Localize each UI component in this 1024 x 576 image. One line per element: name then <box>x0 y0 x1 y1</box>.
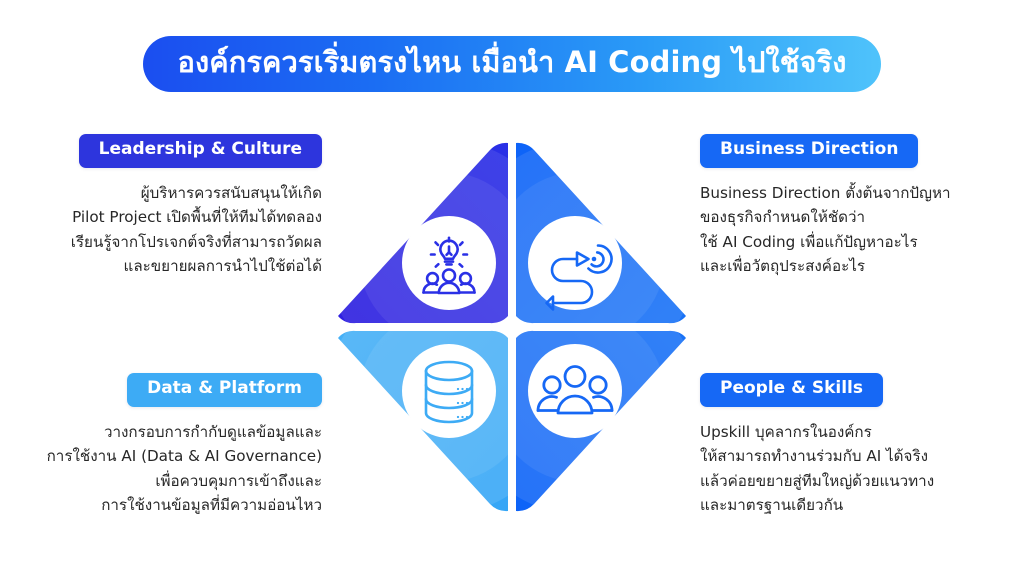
body-people-skills: Upskill บุคลากรในองค์กร ให้สามารถทำงานร่… <box>700 420 1000 519</box>
body-line: และเพื่อวัตถุประสงค์อะไร <box>700 254 1000 279</box>
quadrant-text-people-skills: People & Skills Upskill บุคลากรในองค์กร … <box>700 373 1000 518</box>
body-line: แล้วค่อยขยายสู่ทีมใหญ่ด้วยแนวทาง <box>700 469 1000 494</box>
icon-circle-business-direction[interactable] <box>528 216 622 310</box>
body-line: Upskill บุคลากรในองค์กร <box>700 420 1000 445</box>
icon-circle-leadership-culture[interactable] <box>402 216 496 310</box>
body-line: Pilot Project เปิดพื้นที่ให้ทีมได้ทดลอง <box>22 205 322 230</box>
body-line: เรียนรู้จากโปรเจกต์จริงที่สามารถวัดผล <box>22 230 322 255</box>
body-leadership-culture: ผู้บริหารควรสนับสนุนให้เกิด Pilot Projec… <box>22 181 322 280</box>
center-pinwheel-diagram <box>325 133 699 521</box>
body-line: เพื่อควบคุมการเข้าถึงและ <box>22 469 322 494</box>
body-line: ใช้ AI Coding เพื่อแก้ปัญหาอะไร <box>700 230 1000 255</box>
quadrant-text-business-direction: Business Direction Business Direction ตั… <box>700 134 1000 279</box>
badge-data-platform: Data & Platform <box>127 373 322 407</box>
body-line: การใช้งานข้อมูลที่มีความอ่อนไหว <box>22 493 322 518</box>
body-line: และมาตรฐานเดียวกัน <box>700 493 1000 518</box>
title-bar: องค์กรควรเริ่มตรงไหน เมื่อนำ AI Coding ไ… <box>0 36 1024 92</box>
body-line: ของธุรกิจกำหนดให้ชัดว่า <box>700 205 1000 230</box>
page-title: องค์กรควรเริ่มตรงไหน เมื่อนำ AI Coding ไ… <box>143 36 880 92</box>
body-line: วางกรอบการกำกับดูแลข้อมูลและ <box>22 420 322 445</box>
infographic-slide: องค์กรควรเริ่มตรงไหน เมื่อนำ AI Coding ไ… <box>0 0 1024 576</box>
icon-circle-data-platform[interactable] <box>402 344 496 438</box>
badge-business-direction: Business Direction <box>700 134 918 168</box>
quadrant-text-data-platform: Data & Platform วางกรอบการกำกับดูแลข้อมู… <box>22 373 322 518</box>
badge-leadership-culture: Leadership & Culture <box>79 134 322 168</box>
icon-circle-people-skills[interactable] <box>528 344 622 438</box>
body-business-direction: Business Direction ตั้งต้นจากปัญหา ของธุ… <box>700 181 1000 280</box>
body-line: Business Direction ตั้งต้นจากปัญหา <box>700 181 1000 206</box>
body-line: ให้สามารถทำงานร่วมกับ AI ได้จริง <box>700 444 1000 469</box>
badge-people-skills: People & Skills <box>700 373 883 407</box>
body-line: การใช้งาน AI (Data & AI Governance) <box>22 444 322 469</box>
quadrant-text-leadership-culture: Leadership & Culture ผู้บริหารควรสนับสนุ… <box>22 134 322 279</box>
body-data-platform: วางกรอบการกำกับดูแลข้อมูลและ การใช้งาน A… <box>22 420 322 519</box>
body-line: และขยายผลการนำไปใช้ต่อได้ <box>22 254 322 279</box>
body-line: ผู้บริหารควรสนับสนุนให้เกิด <box>22 181 322 206</box>
